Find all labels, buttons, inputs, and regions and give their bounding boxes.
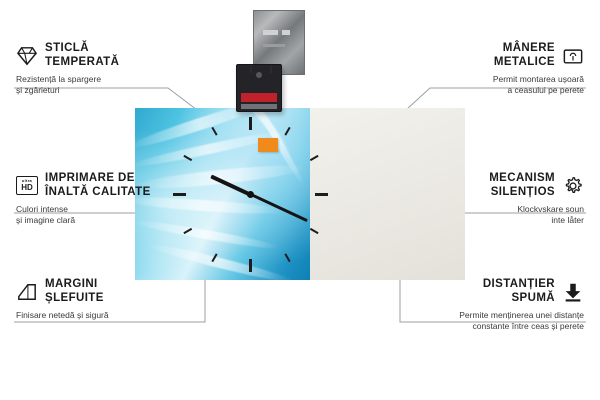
callout-title-line1: MARGINI (45, 278, 98, 290)
callout-manere-metalice: MÂNERE METALICE Permit montarea ușoară a… (424, 42, 584, 96)
callout-desc-line1: Culori intense (16, 204, 68, 214)
callout-desc-line1: Klockvskare soun (517, 204, 584, 214)
clock-mechanism-box (236, 64, 282, 112)
callout-margini-slefuite: MARGINI ȘLEFUITE Finisare netedă și sigu… (16, 278, 176, 321)
ultra-hd-badge-icon: ultra HD (16, 175, 38, 197)
callout-desc-line1: Permit montarea ușoară (493, 74, 584, 84)
callout-desc-line2: inte låter (551, 215, 584, 225)
callout-imprimare-calitate: ultra HD IMPRIMARE DE ÎNALTĂ CALITATE Cu… (16, 172, 176, 226)
callout-title-line2: SPUMĂ (511, 292, 555, 304)
clock-hour-hand (210, 174, 252, 196)
callout-title-line2: TEMPERATĂ (45, 56, 119, 68)
hd-badge-main-label: HD (21, 184, 33, 192)
callout-title-line1: MÂNERE (503, 42, 555, 54)
callout-desc-line2: constante între ceas și perete (472, 321, 584, 331)
callout-title-line1: IMPRIMARE DE (45, 172, 135, 184)
callout-title-line2: ÎNALTĂ CALITATE (45, 186, 151, 198)
down-arrow-block-icon (562, 281, 584, 303)
callout-title-line2: SILENȚIOS (491, 186, 555, 198)
diamond-icon (16, 45, 38, 67)
callout-title-line2: ȘLEFUITE (45, 292, 104, 304)
callout-title-line1: DISTANȚIER (483, 278, 555, 290)
clock-face (169, 113, 332, 276)
callout-desc-line1: Finisare netedă și sigură (16, 310, 109, 320)
callout-desc-line1: Rezistență la spargere (16, 74, 101, 84)
clock-minute-hand (250, 193, 307, 222)
hanger-frame-icon (562, 45, 584, 67)
callout-desc-line1: Permite menținerea unei distanțe (459, 310, 584, 320)
infographic-canvas: STICLĂ TEMPERATĂ Rezistență la spargere … (0, 0, 600, 400)
gear-icon (562, 175, 584, 197)
callout-title-line1: MECANISM (489, 172, 555, 184)
callout-distantier-spuma: DISTANȚIER SPUMĂ Permite menținerea unei… (394, 278, 584, 332)
callout-desc-line2: a ceasului pe perete (507, 85, 584, 95)
callout-sticla-temperata: STICLĂ TEMPERATĂ Rezistență la spargere … (16, 42, 176, 96)
callout-mecanism-silentios: MECANISM SILENȚIOS Klockvskare soun inte… (424, 172, 584, 226)
bevel-edge-icon (16, 281, 38, 303)
callout-desc-line2: și zgârieturi (16, 85, 59, 95)
callout-title-line1: STICLĂ (45, 42, 89, 54)
callout-desc-line2: și imagine clară (16, 215, 75, 225)
callout-title-line2: METALICE (494, 56, 555, 68)
clock-center-cap (247, 191, 254, 198)
